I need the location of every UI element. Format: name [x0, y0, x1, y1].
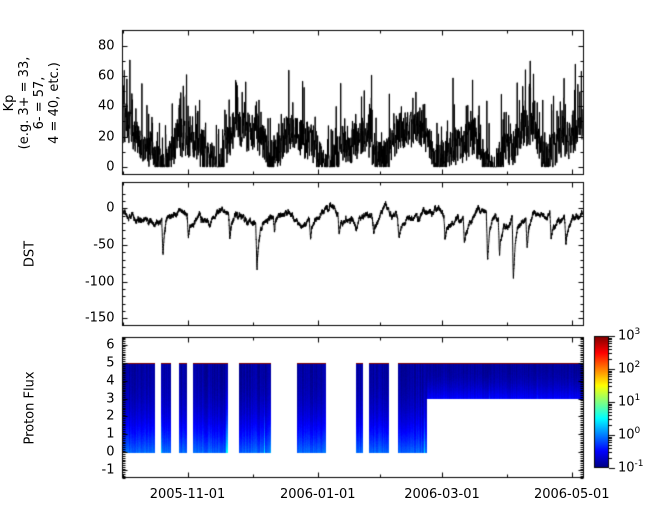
colorbar-tick-1e1: 101: [618, 396, 640, 409]
dst-ytick--100: -100: [85, 275, 115, 288]
colorbar-tick-1e0: 100: [618, 429, 640, 442]
colorbar-tick-1e-1: 10-1: [618, 462, 644, 475]
kp-ytick-80: 80: [98, 39, 115, 52]
flux-ytick-6: 6: [106, 338, 114, 351]
kp-ytick-40: 40: [98, 100, 115, 113]
flux-ytick--1: -1: [102, 464, 115, 477]
dst-axis-title: DST: [24, 241, 37, 267]
flux-ytick-0: 0: [106, 446, 114, 459]
flux-ytick-4: 4: [106, 374, 114, 387]
flux-axis-title: Proton Flux: [24, 371, 37, 444]
flux-ytick-3: 3: [106, 392, 114, 405]
kp-ytick-60: 60: [98, 69, 115, 82]
flux-ytick-5: 5: [106, 356, 114, 369]
colorbar-tick-1e3: 103: [618, 330, 640, 343]
dst-ytick--50: -50: [93, 238, 114, 251]
flux-ytick-1: 1: [106, 428, 114, 441]
dst-ytick--150: -150: [85, 312, 115, 325]
flux-ytick-2: 2: [106, 410, 114, 423]
space-weather-figure: 0204060800-50-100-150-101234562005-11-01…: [0, 0, 665, 523]
kp-ytick-20: 20: [98, 130, 115, 143]
xtick-2005-11-01: 2005-11-01: [150, 488, 226, 501]
kp-ytick-0: 0: [106, 160, 114, 173]
dst-ytick-0: 0: [106, 202, 114, 215]
kp-axis-title: Kp (e.g. 3+ = 33, 6- = 57, 4 = 40, etc.): [2, 23, 62, 183]
xtick-2006-01-01: 2006-01-01: [280, 488, 356, 501]
colorbar-tick-1e2: 102: [618, 363, 640, 376]
xtick-2006-03-01: 2006-03-01: [404, 488, 480, 501]
xtick-2006-05-01: 2006-05-01: [534, 488, 610, 501]
